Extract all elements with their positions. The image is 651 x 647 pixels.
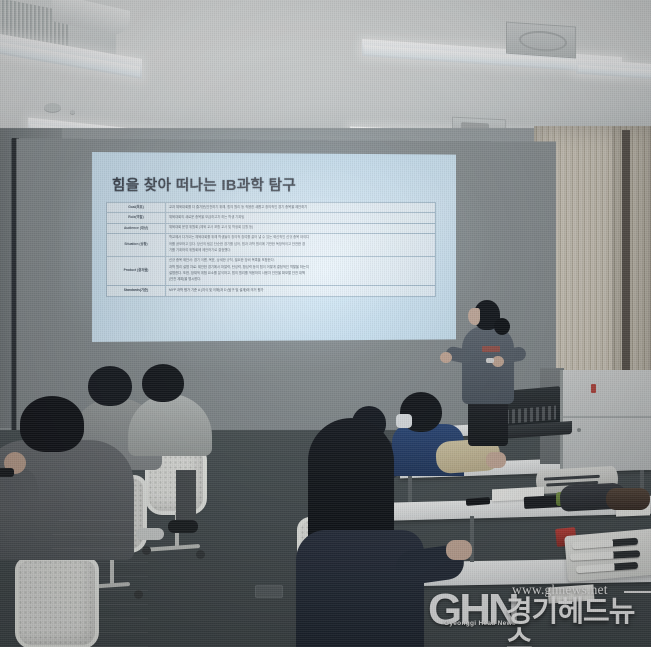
shoe xyxy=(168,520,198,533)
wristwatch xyxy=(0,468,14,477)
audience-head xyxy=(88,366,132,406)
projected-slide: 힘을 찾아 떠나는 IB과학 탐구 Goal(목표)교과 체육대회를 더 즐거운… xyxy=(92,152,456,342)
slide-row-label: Goal(목표) xyxy=(107,203,166,213)
slide-row-line: 교과 체육대회를 더 즐거운(안전하기 위해, 힘의 원리 등 적용한 새롭고 … xyxy=(169,205,432,210)
presenter-legs xyxy=(468,400,508,446)
cabinet-knob xyxy=(577,428,581,432)
classroom-photo-scene: 힘을 찾아 떠나는 IB과학 탐구 Goal(목표)교과 체육대회를 더 즐거운… xyxy=(0,0,651,647)
slide-row-text: 체육대회의 새로운 종목을 보급하고자 하는 학생 기획팀 xyxy=(166,213,436,223)
presenter-body xyxy=(462,326,514,404)
slide-table-row: Role(역할)체육대회의 새로운 종목을 보급하고자 하는 학생 기획팀 xyxy=(107,213,436,223)
paper-sheet xyxy=(547,584,594,603)
slide-row-line: 체육대회 운영 위원회 (체육 교사 포함 교사 및 학생회 임원 등) xyxy=(169,225,432,230)
presenter-hand xyxy=(440,352,452,363)
audience-member xyxy=(296,530,424,647)
slide-table-row: Standards(기준)MYP 과학 평가 기준 A (지식 및 이해)과 D… xyxy=(107,286,436,296)
slide-row-label: Audience (대상) xyxy=(107,223,166,233)
slide-row-line: 체육대회의 새로운 종목을 보급하고자 하는 학생 기획팀 xyxy=(169,215,432,220)
shirt-graphic xyxy=(482,346,500,352)
slide-row-text: 신규 종목 제안서: 경기 이름, 목표, 상세한 규칙, 필요한 장비 목록을… xyxy=(166,256,436,285)
slide-row-line: (안전 계획)을 명시한다. xyxy=(169,277,432,282)
slide-row-label: Situation (상황) xyxy=(107,233,166,256)
handbag xyxy=(606,488,650,510)
slide-title: 힘을 찾아 떠나는 IB과학 탐구 xyxy=(112,174,296,195)
sprinkler-icon xyxy=(44,103,61,112)
presenter-face xyxy=(468,308,480,325)
slide-row-label: Role(역할) xyxy=(107,213,166,223)
slide-row-line: MYP 과학 평가 기준 A (지식 및 이해)과 D (탐구 및 설계)에 의… xyxy=(169,288,432,293)
audience-head xyxy=(20,396,84,452)
slide-row-line: 신규 종목 제안서: 경기 이름, 목표, 상세한 규칙, 필요한 장비 목록을… xyxy=(169,258,432,263)
slide-row-label: Standards(기준) xyxy=(107,286,166,296)
cabinet-label xyxy=(591,384,596,393)
slide-row-line: 어를 공모하고 있다. 당신의 팀은 단순한 경기를 넘어, 힘과 과학 원리에… xyxy=(169,242,432,247)
slide-table-row: Product (결과물)신규 종목 제안서: 경기 이름, 목표, 상세한 규… xyxy=(107,256,436,285)
slide-row-label: Product (결과물) xyxy=(107,256,166,285)
slide-table-body: Goal(목표)교과 체육대회를 더 즐거운(안전하기 위해, 힘의 원리 등 … xyxy=(107,203,436,297)
slide-row-line: 기를 기획하여 위원회에 제안하기로 결정했다. xyxy=(169,248,432,253)
slide-grasps-table: Goal(목표)교과 체육대회를 더 즐거운(안전하기 위해, 힘의 원리 등 … xyxy=(106,202,436,297)
air-vent-icon xyxy=(506,22,576,59)
slide-table-row: Goal(목표)교과 체육대회를 더 즐거운(안전하기 위해, 힘의 원리 등 … xyxy=(107,203,436,213)
slide-row-text: 체육대회 운영 위원회 (체육 교사 포함 교사 및 학생회 임원 등) xyxy=(166,223,436,233)
slide-row-line: 과학 원리 설명 자료: 제안한 경기에서 마찰력, 탄성력, 합성력 등의 힘… xyxy=(169,265,432,270)
slide-row-text: 교과 체육대회를 더 즐거운(안전하기 위해, 힘의 원리 등 적용한 새롭고 … xyxy=(166,203,436,213)
audience-head xyxy=(142,364,184,402)
cabinet-seam xyxy=(563,416,651,418)
slide-row-line: 설명한다. 또한, 잠재적 위험 요소를 분석하고, 힘의 원리를 적용하여 사… xyxy=(169,271,432,276)
audience-hand xyxy=(446,540,472,560)
storage-cabinet xyxy=(560,370,651,470)
floor-outlet xyxy=(255,585,283,598)
presenter-hair-bun xyxy=(494,318,510,335)
audience-hand xyxy=(486,452,506,468)
slide-row-text: 학교에서 다가오는 체육대회를 위해 학생들의 창의적 참여를 끌어 낼 수 있… xyxy=(166,233,436,256)
puffer-jacket xyxy=(52,512,148,647)
slide-table-row: Situation (상황)학교에서 다가오는 체육대회를 위해 학생들의 창의… xyxy=(107,233,436,256)
sprinkler-icon xyxy=(70,110,75,114)
slide-row-line: 학교에서 다가오는 체육대회를 위해 학생들의 창의적 참여를 끌어 낼 수 있… xyxy=(169,235,432,240)
face-mask xyxy=(396,414,412,428)
slide-table-row: Audience (대상)체육대회 운영 위원회 (체육 교사 포함 교사 및 … xyxy=(107,223,436,233)
table-leg xyxy=(408,474,412,502)
slide-row-text: MYP 과학 평가 기준 A (지식 및 이해)과 D (탐구 및 설계)에 의… xyxy=(166,286,436,296)
wristwatch xyxy=(486,358,494,363)
